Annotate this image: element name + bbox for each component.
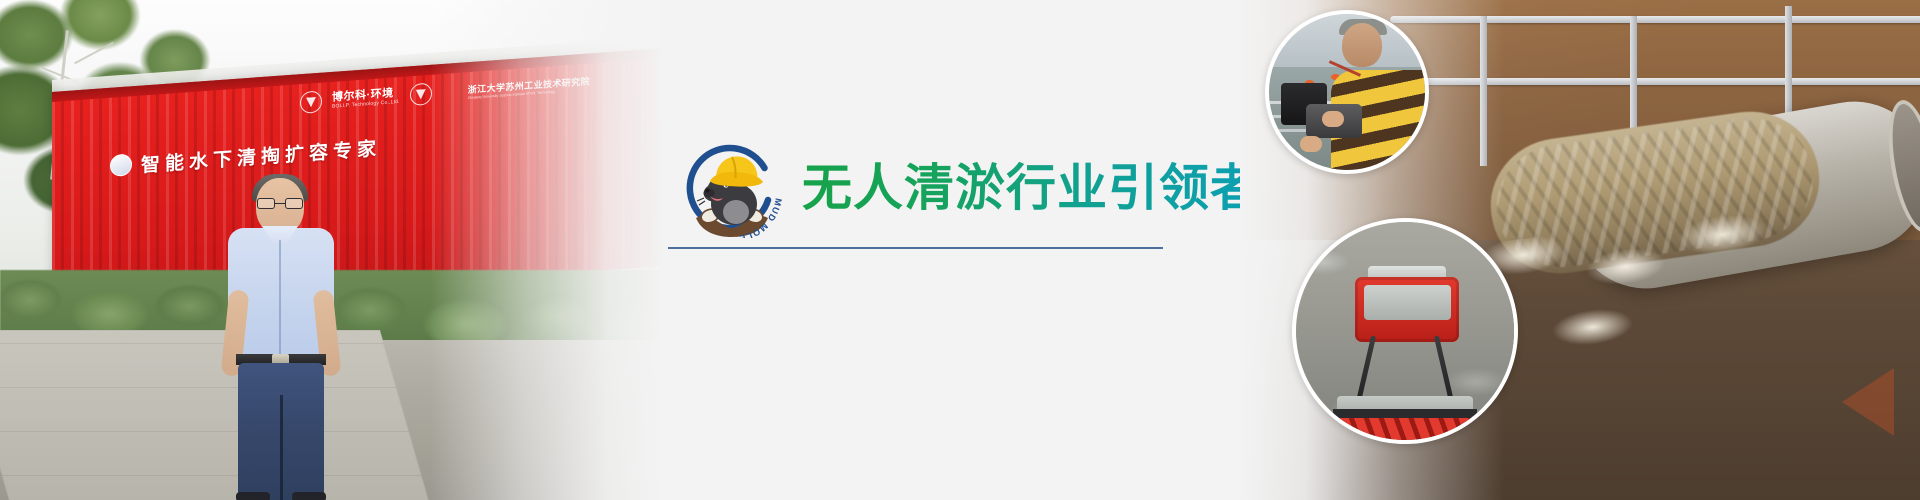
mud-mole-logo: MUD MOLE	[680, 138, 784, 238]
center-brand-block: MUD MOLE 无人清淤行业引领者	[660, 0, 1260, 500]
operator-photo	[1269, 14, 1425, 170]
company-emblem-icon	[300, 90, 322, 114]
brand-row: MUD MOLE 无人清淤行业引领者	[680, 138, 1261, 238]
slogan-badge-icon	[110, 153, 132, 177]
operator-hand	[1300, 136, 1322, 152]
institute-badge: 浙江大学苏州工业技术研究院 Zhejiang University Suzhou…	[468, 74, 590, 100]
operator-hand	[1322, 111, 1344, 127]
shirt-placket	[279, 240, 281, 356]
person-shoe-right	[292, 492, 326, 500]
paved-path	[0, 330, 434, 500]
handrail-mid	[1390, 78, 1920, 85]
rail-post	[1480, 16, 1487, 166]
robot-deck	[1364, 285, 1451, 320]
operator-head	[1342, 23, 1382, 67]
dredging-robot-photo	[1296, 222, 1514, 440]
person-shoe-left	[236, 492, 270, 500]
orange-arrow-overlay	[1842, 368, 1894, 436]
inset-photo-dredging-robot	[1292, 218, 1518, 444]
robot-red-auger	[1333, 418, 1477, 442]
pipe-mouth	[1880, 96, 1920, 236]
divider-line	[668, 247, 1163, 249]
hero-banner: 博尔科·环境 BOLI.P. Technology Co.,Ltd. 浙江大学苏…	[0, 0, 1920, 500]
eyeglasses-icon	[257, 198, 303, 209]
company-badge: 博尔科·环境 BOLI.P. Technology Co.,Ltd.	[332, 87, 400, 110]
handrail-top	[1390, 16, 1920, 23]
headline-text: 无人清淤行业引领者	[802, 161, 1261, 215]
left-photo: 博尔科·环境 BOLI.P. Technology Co.,Ltd. 浙江大学苏…	[0, 0, 660, 500]
inset-photo-operator	[1265, 10, 1429, 174]
engineer-person	[222, 178, 340, 500]
person-jeans	[238, 363, 324, 500]
institute-emblem-icon	[410, 83, 432, 107]
